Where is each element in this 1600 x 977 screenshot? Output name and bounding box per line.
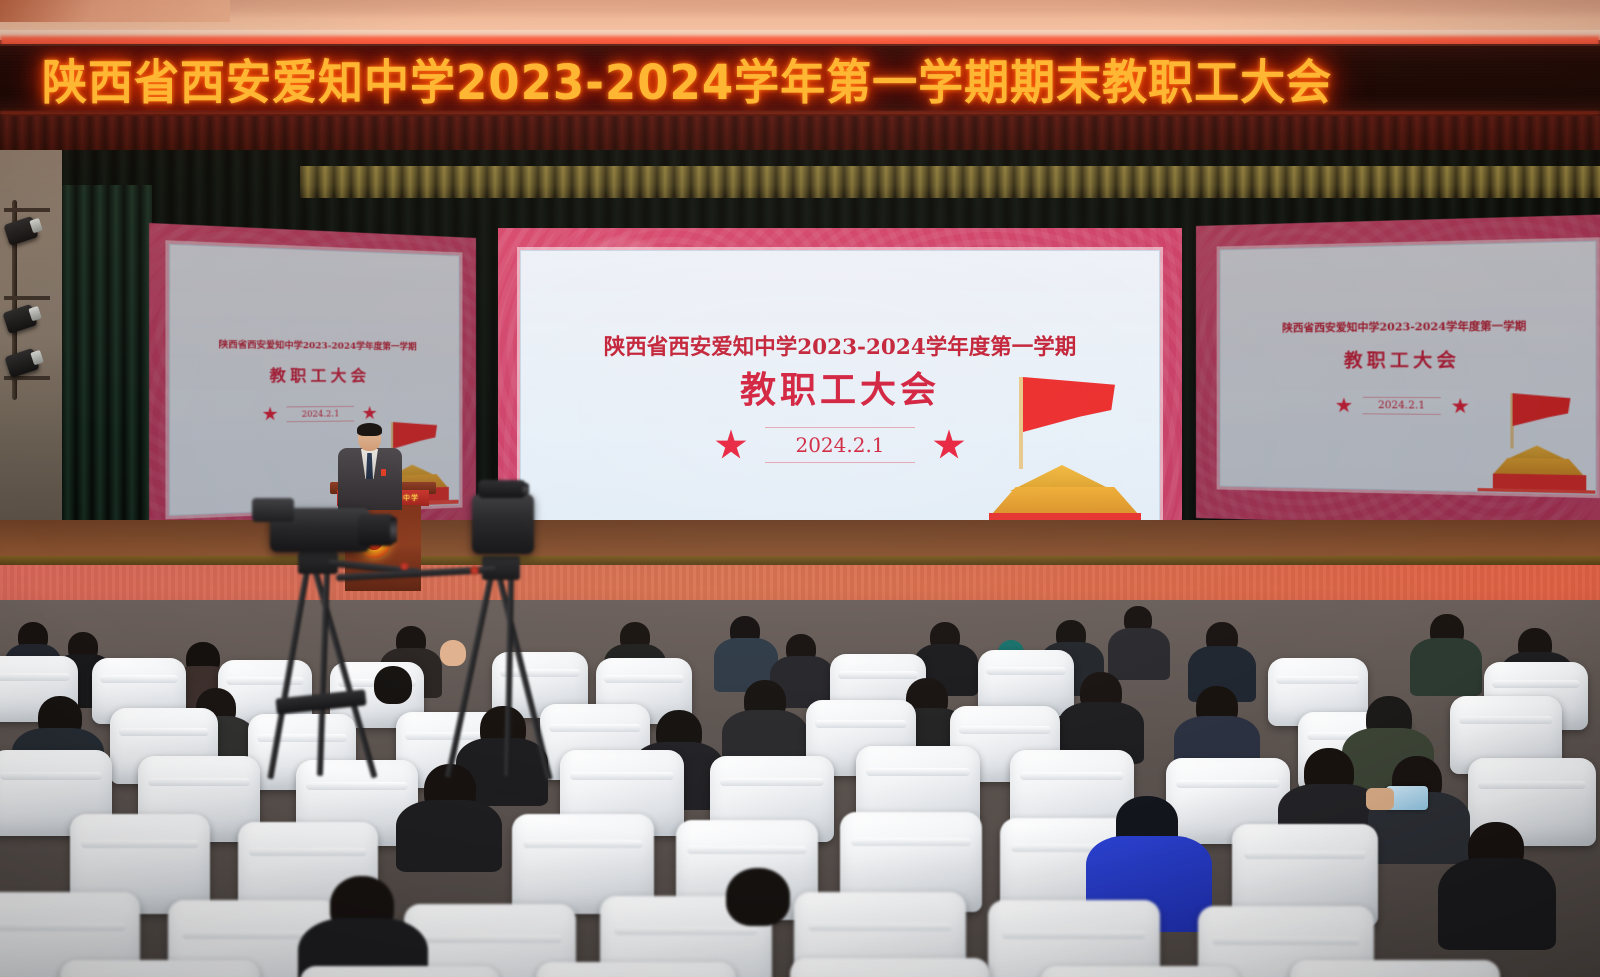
led-banner: 陕西省西安爱知中学2023-2024学年第一学期期末教职工大会 xyxy=(0,44,1600,114)
auditorium-scene: 陕西省西安爱知中学2023-2024学年第一学期期末教职工大会 陕西省西安爱知中… xyxy=(0,0,1600,977)
stage-lamp-icon xyxy=(2,304,37,334)
star-icon xyxy=(715,429,747,461)
flag-pole-icon xyxy=(1510,393,1513,448)
slide-heading: 教职工大会 xyxy=(1221,345,1596,373)
camera-lens-icon xyxy=(358,514,394,546)
red-flag-icon xyxy=(1023,377,1115,432)
tripod-leg xyxy=(317,570,330,776)
seat xyxy=(790,958,990,977)
audience-body xyxy=(396,800,502,872)
red-flag-icon xyxy=(1513,393,1571,426)
camera-right-tripod xyxy=(432,480,632,780)
truss-bar xyxy=(4,296,50,300)
slide-right: 陕西省西安爱知中学2023-2024学年度第一学期 教职工大会 2024.2.1 xyxy=(1220,241,1597,495)
speaker-badge xyxy=(381,469,386,476)
tripod-lock-knob xyxy=(470,566,479,575)
roof-main xyxy=(977,487,1153,515)
slide-date: 2024.2.1 xyxy=(765,427,915,463)
flag-pole-icon xyxy=(1019,377,1023,469)
audience-body xyxy=(1410,638,1482,696)
slide-date: 2024.2.1 xyxy=(286,405,354,421)
camera-viewfinder-icon xyxy=(252,498,294,522)
star-icon xyxy=(1452,398,1469,415)
led-wall-right: 陕西省西安爱知中学2023-2024学年度第一学期 教职工大会 2024.2.1 xyxy=(1196,214,1600,530)
audience-body xyxy=(1438,858,1556,950)
tripod-leg xyxy=(445,575,494,778)
audience-head xyxy=(726,868,790,926)
camera-left-tripod xyxy=(250,482,430,782)
ceiling-corner-panel xyxy=(0,0,230,22)
tripod-leg xyxy=(267,569,310,779)
stage-lamp-icon xyxy=(3,216,38,246)
roof-top xyxy=(1497,445,1577,461)
gate-arch xyxy=(1528,492,1547,495)
star-icon xyxy=(262,407,277,422)
led-banner-text: 陕西省西安爱知中学2023-2024学年第一学期期末教职工大会 xyxy=(42,44,1332,113)
star-icon xyxy=(1336,397,1353,414)
tiananmen-illustration xyxy=(1452,390,1597,495)
slide-title-line: 陕西省西安爱知中学2023-2024学年度第一学期 xyxy=(521,330,1159,361)
stage-lamp-icon xyxy=(4,348,39,378)
audience-body xyxy=(1108,628,1170,680)
speaker-hair xyxy=(357,423,382,436)
slide-title-line: 陕西省西安爱知中学2023-2024学年度第一学期 xyxy=(170,337,459,353)
audience-seating-area xyxy=(0,600,1600,977)
stage-valance-gold xyxy=(300,166,1600,198)
gate-body xyxy=(1493,474,1586,492)
camera-lens-icon xyxy=(478,480,526,498)
truss-bar xyxy=(4,208,50,212)
slide-title-line: 陕西省西安爱知中学2023-2024学年度第一学期 xyxy=(1221,317,1596,336)
star-icon xyxy=(362,406,376,421)
audience-hand xyxy=(1366,788,1394,810)
ceiling xyxy=(0,0,1600,34)
seat xyxy=(1040,966,1240,977)
slide-date: 2024.2.1 xyxy=(1363,397,1441,415)
roof-main xyxy=(1484,458,1593,477)
slide-heading: 教职工大会 xyxy=(170,364,459,387)
seat xyxy=(1290,960,1500,977)
gate-base xyxy=(1478,488,1597,495)
video-camera-body xyxy=(472,494,534,554)
seat xyxy=(300,966,500,977)
stage-light-truss xyxy=(4,200,50,400)
seat xyxy=(60,960,260,977)
seat xyxy=(536,962,736,977)
